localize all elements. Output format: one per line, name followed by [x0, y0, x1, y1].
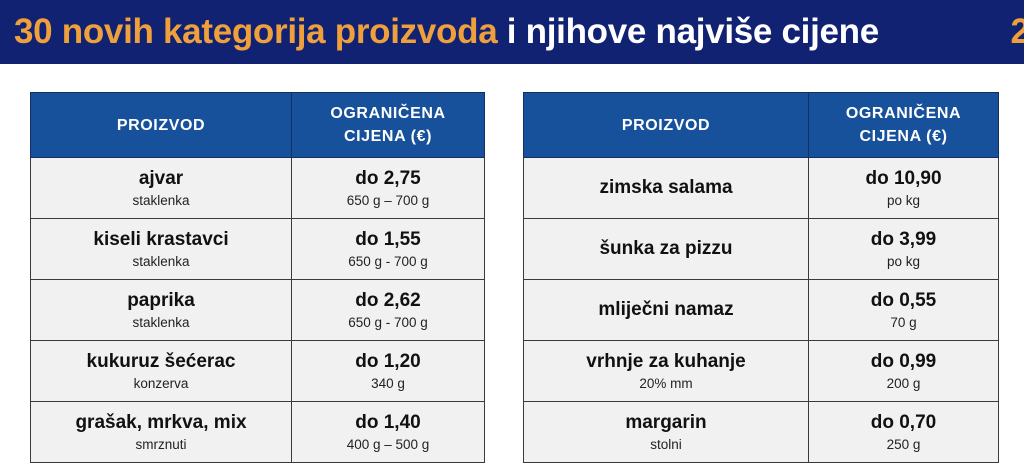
product-name: mliječni namaz	[598, 299, 733, 320]
table-row: paprika staklenka do 2,62 650 g - 700 g	[31, 280, 485, 341]
table-row: margarin stolni do 0,70 250 g	[524, 402, 999, 463]
price-cell: do 1,40 400 g – 500 g	[292, 402, 485, 463]
price-note: 400 g – 500 g	[347, 437, 430, 452]
column-header-price: OGRANIČENA CIJENA (€)	[292, 93, 485, 158]
price-table-right-wrapper: PROIZVOD OGRANIČENA CIJENA (€) zimska sa…	[523, 92, 998, 463]
price-value: do 2,75	[355, 168, 420, 189]
price-cell: do 1,55 650 g - 700 g	[292, 219, 485, 280]
table-row: vrhnje za kuhanje 20% mm do 0,99 200 g	[524, 341, 999, 402]
price-cell: do 3,99 po kg	[809, 219, 999, 280]
price-value: do 0,70	[871, 412, 936, 433]
product-note: stolni	[650, 437, 682, 452]
price-value: do 0,99	[871, 351, 936, 372]
page-title-accent: 30 novih kategorija proizvoda	[14, 12, 497, 51]
product-name: šunka za pizzu	[599, 238, 732, 259]
price-value: do 1,20	[355, 351, 420, 372]
product-name: zimska salama	[599, 177, 732, 198]
product-cell: ajvar staklenka	[31, 158, 292, 219]
page-title-plain: i njihove najviše cijene	[497, 12, 879, 51]
product-note: staklenka	[132, 254, 189, 269]
table-row: kukuruz šećerac konzerva do 1,20 340 g	[31, 341, 485, 402]
product-note: smrznuti	[135, 437, 186, 452]
column-header-product: PROIZVOD	[31, 93, 292, 158]
price-cell: do 0,99 200 g	[809, 341, 999, 402]
product-name: ajvar	[139, 168, 183, 189]
price-note: 650 g - 700 g	[348, 315, 428, 330]
column-header-product: PROIZVOD	[524, 93, 809, 158]
title-band: 30 novih kategorija proizvoda i njihove …	[0, 0, 1024, 64]
product-cell: kukuruz šećerac konzerva	[31, 341, 292, 402]
price-note: 650 g – 700 g	[347, 193, 430, 208]
product-name: paprika	[127, 290, 195, 311]
price-value: do 3,99	[871, 229, 936, 250]
price-cell: do 1,20 340 g	[292, 341, 485, 402]
product-name: kiseli krastavci	[93, 229, 228, 250]
price-table-left-wrapper: PROIZVOD OGRANIČENA CIJENA (€) ajvar sta…	[30, 92, 484, 463]
price-cell: do 0,55 70 g	[809, 280, 999, 341]
product-cell: grašak, mrkva, mix smrznuti	[31, 402, 292, 463]
price-note: po kg	[887, 254, 920, 269]
table-header-row: PROIZVOD OGRANIČENA CIJENA (€)	[524, 93, 999, 158]
price-value: do 1,55	[355, 229, 420, 250]
slide-number: 2	[1011, 7, 1024, 57]
table-header-row: PROIZVOD OGRANIČENA CIJENA (€)	[31, 93, 485, 158]
price-value: do 10,90	[865, 168, 941, 189]
price-value: do 2,62	[355, 290, 420, 311]
price-cell: do 2,62 650 g - 700 g	[292, 280, 485, 341]
product-note: staklenka	[132, 315, 189, 330]
price-table-left: PROIZVOD OGRANIČENA CIJENA (€) ajvar sta…	[30, 92, 485, 463]
price-value: do 0,55	[871, 290, 936, 311]
product-note: staklenka	[132, 193, 189, 208]
price-note: 340 g	[371, 376, 405, 391]
product-name: kukuruz šećerac	[87, 351, 236, 372]
column-header-product-label: PROIZVOD	[524, 114, 808, 137]
slide: 30 novih kategorija proizvoda i njihove …	[0, 0, 1024, 476]
table-row: šunka za pizzu do 3,99 po kg	[524, 219, 999, 280]
product-note: 20% mm	[639, 376, 692, 391]
product-note: konzerva	[134, 376, 189, 391]
table-row: kiseli krastavci staklenka do 1,55 650 g…	[31, 219, 485, 280]
price-note: 650 g - 700 g	[348, 254, 428, 269]
table-row: ajvar staklenka do 2,75 650 g – 700 g	[31, 158, 485, 219]
column-header-product-label: PROIZVOD	[31, 114, 291, 137]
product-cell: margarin stolni	[524, 402, 809, 463]
page-title: 30 novih kategorija proizvoda i njihove …	[14, 7, 879, 57]
price-note: po kg	[887, 193, 920, 208]
product-cell: kiseli krastavci staklenka	[31, 219, 292, 280]
column-header-price-line2: CIJENA (€)	[809, 125, 998, 148]
product-name: grašak, mrkva, mix	[75, 412, 246, 433]
price-note: 250 g	[887, 437, 921, 452]
table-row: mliječni namaz do 0,55 70 g	[524, 280, 999, 341]
price-table-right: PROIZVOD OGRANIČENA CIJENA (€) zimska sa…	[523, 92, 999, 463]
price-value: do 1,40	[355, 412, 420, 433]
price-note: 70 g	[890, 315, 916, 330]
product-name: margarin	[625, 412, 706, 433]
column-header-price: OGRANIČENA CIJENA (€)	[809, 93, 999, 158]
table-row: grašak, mrkva, mix smrznuti do 1,40 400 …	[31, 402, 485, 463]
price-note: 200 g	[887, 376, 921, 391]
product-name: vrhnje za kuhanje	[586, 351, 745, 372]
table-row: zimska salama do 10,90 po kg	[524, 158, 999, 219]
product-cell: paprika staklenka	[31, 280, 292, 341]
product-cell: zimska salama	[524, 158, 809, 219]
product-cell: vrhnje za kuhanje 20% mm	[524, 341, 809, 402]
price-cell: do 0,70 250 g	[809, 402, 999, 463]
price-cell: do 2,75 650 g – 700 g	[292, 158, 485, 219]
product-cell: šunka za pizzu	[524, 219, 809, 280]
price-cell: do 10,90 po kg	[809, 158, 999, 219]
column-header-price-line2: CIJENA (€)	[292, 125, 484, 148]
column-header-price-line1: OGRANIČENA	[292, 102, 484, 125]
column-header-price-line1: OGRANIČENA	[809, 102, 998, 125]
product-cell: mliječni namaz	[524, 280, 809, 341]
